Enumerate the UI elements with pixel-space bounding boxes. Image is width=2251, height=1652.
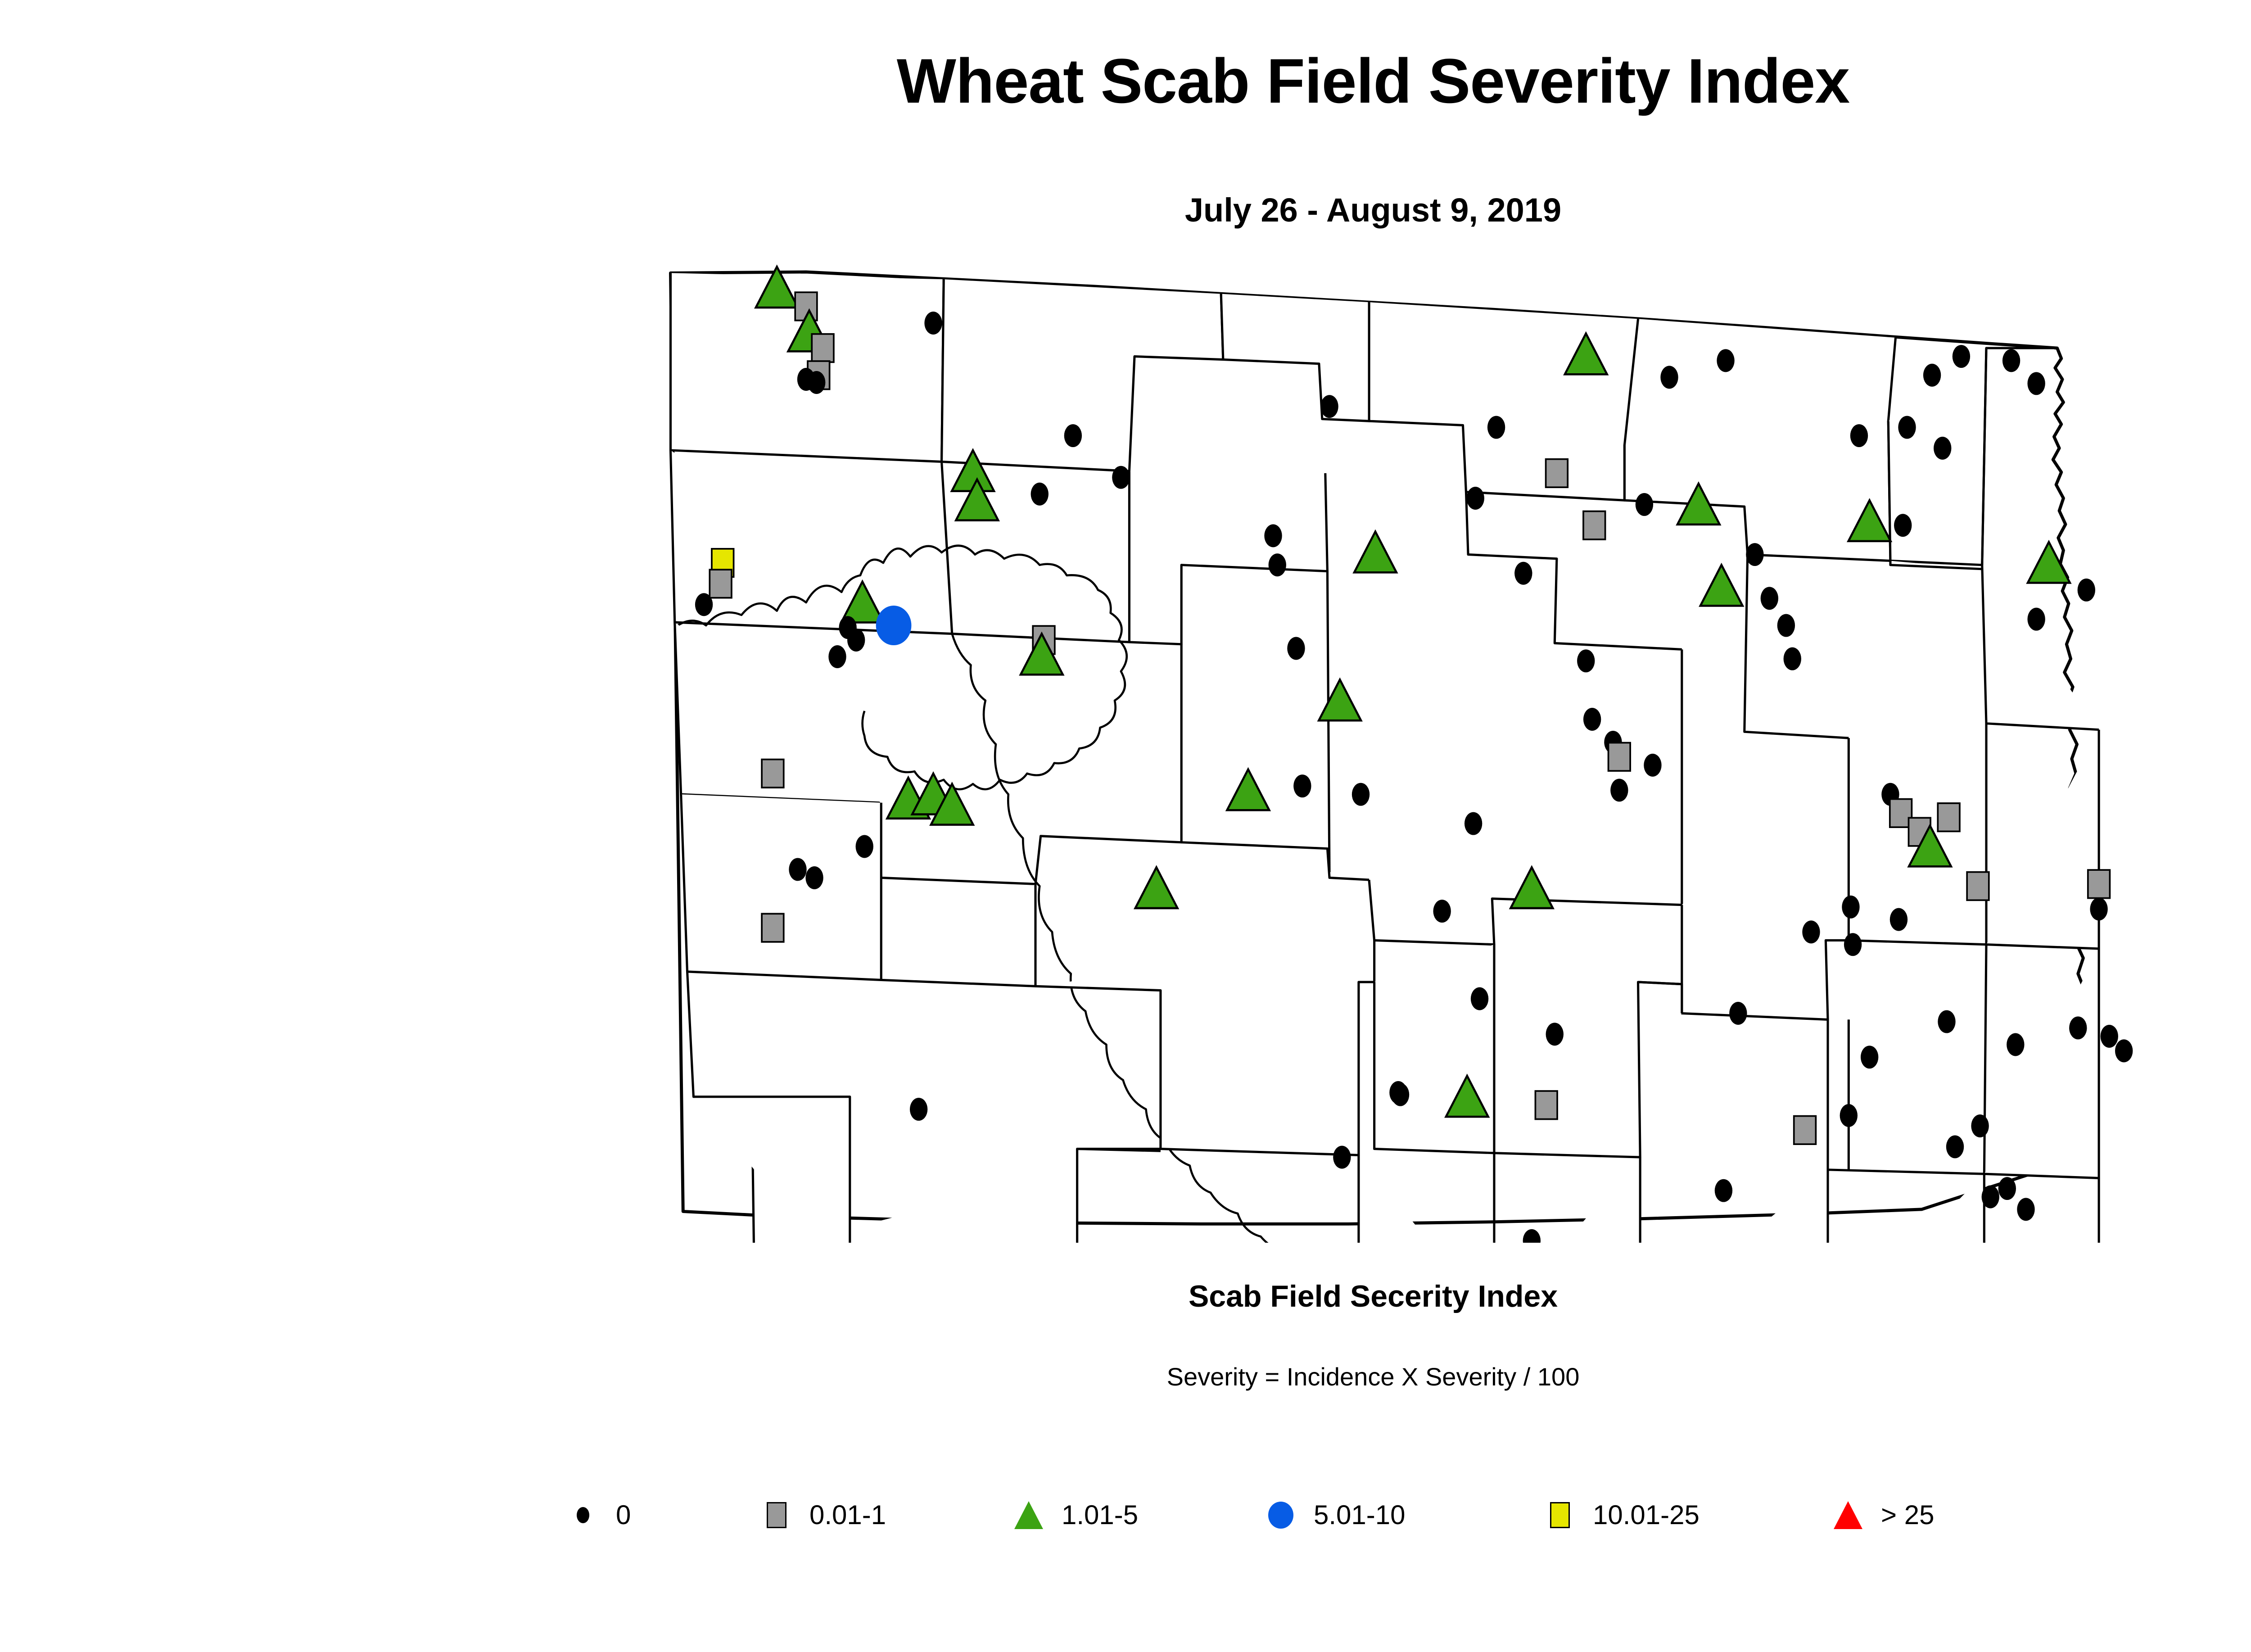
page-subtitle: July 26 - August 9, 2019 (0, 194, 2251, 227)
map-svg (639, 252, 2224, 1243)
map-marker-dot (1898, 416, 1916, 439)
map-marker-dot (2101, 1025, 2118, 1048)
map-marker-dot (1467, 487, 1484, 510)
map-marker-dot (808, 371, 825, 394)
square-marker-icon (752, 1502, 801, 1528)
legend-item-label: 5.01-10 (1306, 1502, 1406, 1529)
map-marker-dot (1746, 543, 1763, 566)
map-marker-dot (2007, 1033, 2024, 1056)
marker-glyph (1268, 1502, 1293, 1529)
map-figure-page: Wheat Scab Field Severity Index July 26 … (0, 0, 2251, 1652)
map-marker-dot (1660, 366, 1678, 389)
map-marker-dot (1577, 649, 1595, 672)
legend-item-0[interactable]: 0 (558, 1486, 752, 1544)
map-marker-dot (1583, 708, 1601, 731)
map-marker-dot (2078, 579, 2095, 602)
legend: 00.01-11.01-55.01-1010.01-25> 25 (558, 1486, 2224, 1544)
north-dakota-county-map (639, 252, 2224, 1243)
marker-glyph (1834, 1501, 1862, 1529)
map-marker-dot (1946, 1135, 1964, 1158)
map-marker-dot (1982, 1186, 1999, 1208)
map-marker-dot (828, 645, 846, 668)
map-marker-circle (876, 606, 912, 645)
map-marker-dot (2090, 897, 2107, 920)
map-marker-dot (1546, 1023, 1564, 1046)
map-marker-dot (1850, 424, 1868, 447)
map-marker-dot (1389, 1081, 1407, 1104)
legend-item-label: 10.01-25 (1585, 1502, 1700, 1529)
dot-marker-icon (558, 1507, 608, 1523)
map-marker-dot (1293, 774, 1311, 797)
map-marker-dot (2017, 1198, 2034, 1221)
map-marker-dot (1487, 416, 1505, 439)
map-marker-square (812, 334, 834, 362)
map-marker-dot (910, 1098, 927, 1121)
legend-item-label: > 25 (1873, 1502, 1934, 1529)
map-marker-square (1546, 459, 1568, 488)
legend-item-5-01-10[interactable]: 5.01-10 (1256, 1486, 1535, 1544)
map-marker-dot (1465, 812, 1482, 835)
legend-item--25[interactable]: > 25 (1823, 1486, 1934, 1544)
map-marker-dot (1610, 778, 1628, 801)
map-marker-dot (924, 312, 942, 335)
legend-item-label: 0 (608, 1502, 631, 1529)
map-marker-square (1938, 803, 1960, 832)
triangle-marker-icon (1823, 1501, 1873, 1529)
circle-marker-icon (1256, 1502, 1306, 1529)
map-marker-dot (1894, 514, 1912, 537)
legend-item-1-01-5[interactable]: 1.01-5 (1004, 1486, 1256, 1544)
map-marker-dot (2002, 349, 2020, 372)
map-marker-dot (1890, 908, 1907, 931)
page-title: Wheat Scab Field Severity Index (0, 50, 2251, 113)
map-marker-dot (2069, 1016, 2087, 1039)
map-marker-dot (1064, 424, 1082, 447)
triangle-marker-icon (1004, 1501, 1053, 1529)
map-marker-dot (847, 629, 865, 652)
square-marker-icon (1535, 1502, 1585, 1528)
map-marker-square (1583, 511, 1605, 539)
map-marker-dot (1761, 587, 1778, 610)
map-marker-square (1535, 1091, 1557, 1119)
map-marker-dot (695, 593, 713, 616)
map-marker-square (1967, 872, 1989, 901)
map-marker-dot (1953, 345, 1970, 368)
map-marker-dot (2027, 372, 2045, 395)
map-marker-square (762, 914, 784, 942)
map-marker-dot (1729, 1002, 1747, 1025)
map-marker-dot (1844, 933, 1862, 956)
map-marker-square (2088, 870, 2110, 898)
map-marker-dot (1715, 1179, 1732, 1202)
map-marker-dot (1264, 524, 1282, 547)
legend-item-label: 0.01-1 (801, 1502, 886, 1529)
map-marker-dot (1433, 900, 1451, 923)
map-marker-dot (1514, 562, 1532, 585)
legend-formula: Severity = Incidence X Severity / 100 (0, 1364, 2251, 1389)
map-marker-dot (1717, 349, 1734, 372)
map-marker-dot (1842, 896, 1859, 919)
map-marker-dot (1840, 1104, 1858, 1127)
map-marker-dot (1636, 493, 1653, 516)
map-marker-dot (1971, 1114, 1989, 1137)
map-marker-square (1609, 743, 1631, 771)
legend-item-0-01-1[interactable]: 0.01-1 (752, 1486, 1004, 1544)
marker-glyph (1550, 1502, 1570, 1528)
map-marker-dot (856, 835, 873, 858)
map-marker-dot (1802, 920, 1820, 943)
map-marker-dot (1112, 466, 1130, 489)
map-marker-dot (1784, 647, 1801, 670)
map-marker-square (762, 760, 784, 788)
map-marker-dot (2027, 608, 2045, 631)
marker-glyph (577, 1507, 589, 1523)
map-marker-dot (1861, 1046, 1878, 1068)
map-marker-dot (2115, 1039, 2133, 1062)
marker-glyph (1014, 1501, 1043, 1529)
marker-glyph (767, 1502, 786, 1528)
map-marker-square (1794, 1116, 1816, 1145)
map-marker-dot (1352, 783, 1370, 806)
map-marker-dot (1471, 987, 1488, 1010)
map-marker-dot (1031, 483, 1049, 506)
map-marker-square (710, 570, 732, 598)
map-marker-dot (1938, 1010, 1955, 1033)
legend-heading: Scab Field Secerity Index (0, 1281, 2251, 1312)
map-marker-dot (1644, 754, 1661, 777)
map-marker-dot (1934, 437, 1951, 460)
legend-item-label: 1.01-5 (1053, 1502, 1138, 1529)
map-marker-dot (1333, 1146, 1351, 1169)
map-marker-dot (1287, 637, 1305, 660)
map-marker-dot (1923, 364, 1941, 387)
legend-item-10-01-25[interactable]: 10.01-25 (1535, 1486, 1823, 1544)
map-marker-dot (805, 866, 823, 889)
map-marker-dot (1320, 395, 1338, 418)
map-marker-dot (1523, 1229, 1541, 1243)
map-marker-dot (1269, 553, 1286, 576)
map-marker-dot (1998, 1177, 2016, 1200)
map-marker-dot (1777, 614, 1795, 637)
map-marker-dot (789, 858, 806, 881)
